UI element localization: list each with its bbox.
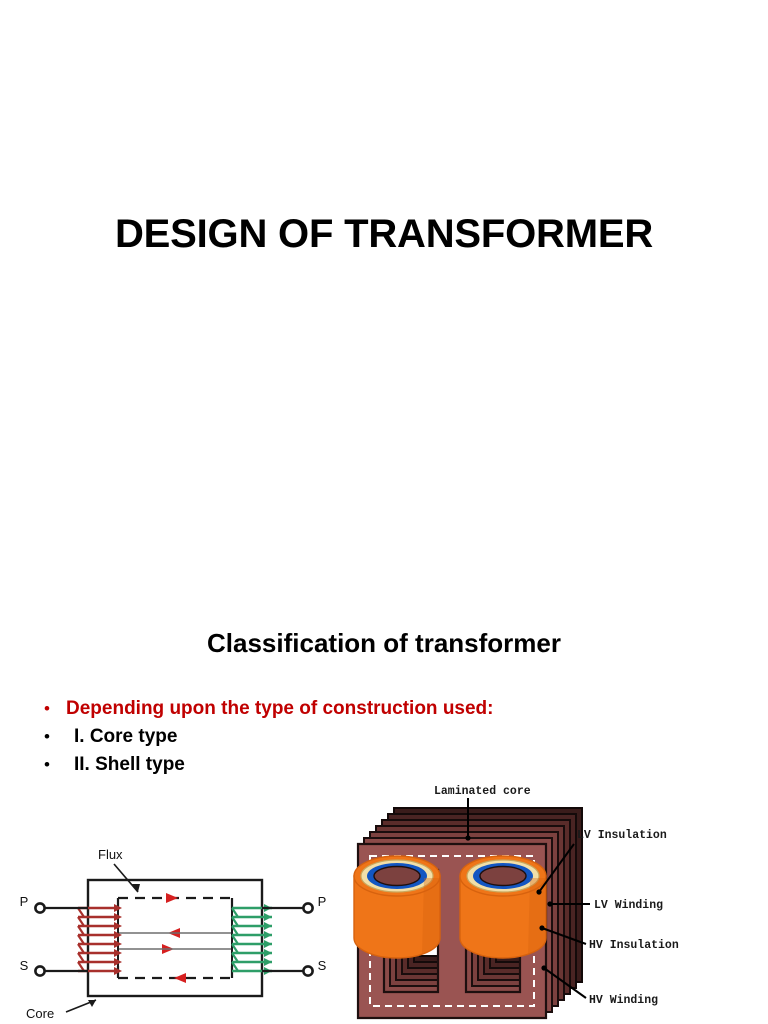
- winding-spines: [118, 902, 232, 976]
- list-item: • I. Core type: [36, 726, 676, 748]
- terminal-label-primary-top: P: [20, 894, 29, 909]
- secondary-terminals: [262, 903, 313, 975]
- primary-winding: [78, 904, 122, 975]
- flux-path-sides: [118, 898, 232, 978]
- hv-winding-label: HV Winding: [589, 994, 658, 1007]
- laminated-core-label: Laminated core: [434, 785, 531, 798]
- core-label: Core: [26, 1006, 54, 1021]
- flux-leader-line: [114, 864, 138, 892]
- secondary-winding: [232, 904, 272, 975]
- bullet-marker-icon: •: [36, 700, 66, 717]
- hv-insulation-label: HV Insulation: [589, 939, 679, 952]
- hv-winding-right: [460, 856, 546, 958]
- terminal-label-secondary-top: P: [318, 894, 327, 909]
- section-heading: Classification of transformer: [0, 628, 768, 659]
- shell-type-transformer-diagram: Laminated core LV Insulation LV Winding …: [336, 782, 768, 1024]
- list-item-label: II. Shell type: [66, 754, 185, 776]
- lv-winding-label: LV Winding: [594, 899, 663, 912]
- bullet-marker-icon: •: [36, 728, 66, 745]
- slide-canvas: DESIGN OF TRANSFORMER Classification of …: [0, 0, 768, 1024]
- lv-winding-left: [354, 856, 440, 958]
- bullet-marker-icon: •: [36, 756, 66, 773]
- flux-path: [118, 898, 232, 978]
- core-type-transformer-diagram: P S P S Flux Core: [0, 836, 340, 1024]
- flux-direction-arrow-icon: [162, 893, 186, 983]
- list-item-label: Depending upon the type of construction …: [66, 698, 494, 720]
- list-item-label: I. Core type: [66, 726, 177, 748]
- lv-insulation-label: LV Insulation: [577, 829, 667, 842]
- flux-label: Flux: [98, 847, 123, 862]
- bullet-list: • Depending upon the type of constructio…: [36, 698, 676, 782]
- page-title: DESIGN OF TRANSFORMER: [0, 212, 768, 256]
- terminal-label-secondary-bottom: S: [318, 958, 327, 973]
- terminal-label-primary-bottom: S: [20, 958, 29, 973]
- list-item: • Depending upon the type of constructio…: [36, 698, 676, 720]
- list-item: • II. Shell type: [36, 754, 676, 776]
